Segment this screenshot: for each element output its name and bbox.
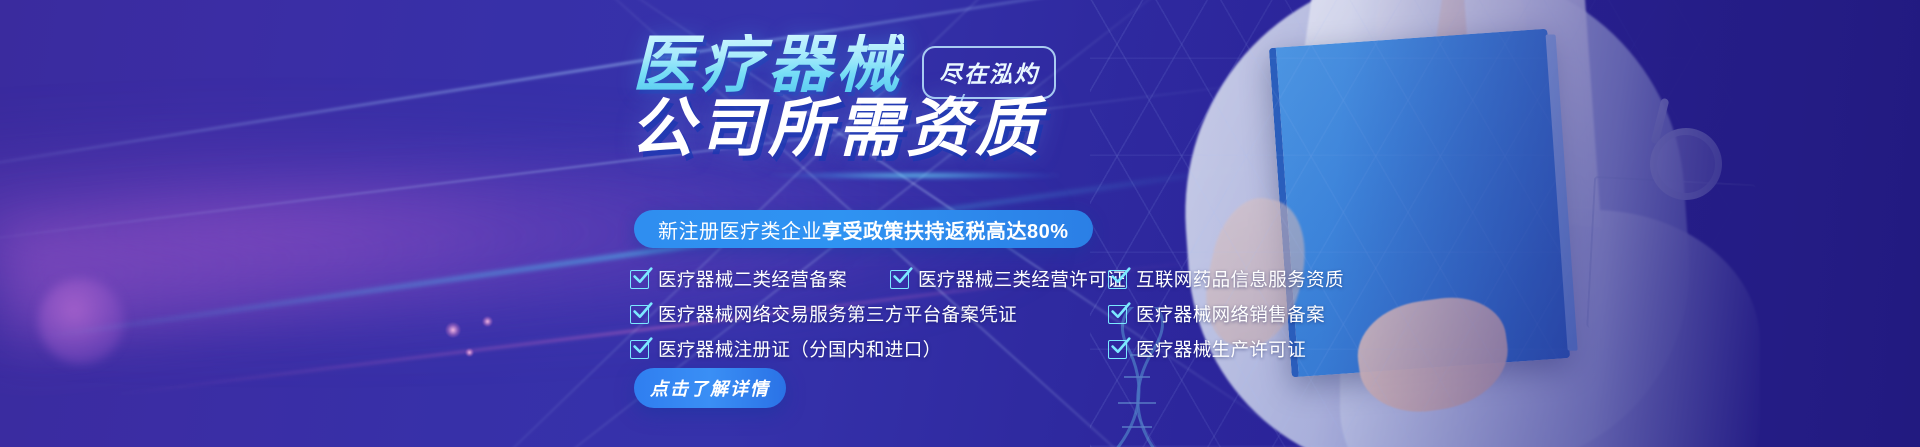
checklist-item[interactable]: 医疗器械网络销售备案 [1108,301,1325,327]
headline-line-1: 医疗器械 [632,34,904,97]
headline-line-2: 公司所需资质 [630,96,1044,160]
subtitle-text-emphasis-2: 返税高达80% [945,215,1069,244]
checklist-row: 医疗器械二类经营备案 医疗器械三类经营许可证 互联网药品信息服务资质 [630,266,1344,292]
qualification-checklist: 医疗器械二类经营备案 医疗器械三类经营许可证 互联网药品信息服务资质 [630,266,1344,371]
subtitle-text-normal-1: 新注册医疗类企业 [658,215,822,244]
check-icon [890,270,909,289]
checklist-row: 医疗器械网络交易服务第三方平台备案凭证 医疗器械网络销售备案 [630,301,1344,327]
subtitle-text-emphasis-1: 享受政策扶持 [822,215,945,244]
banner-content: 医疗器械 尽在泓灼 公司所需资质 新注册医疗类企业 享受政策扶持 返税高达80%… [0,0,1920,447]
checklist-item[interactable]: 医疗器械网络交易服务第三方平台备案凭证 [630,301,1108,327]
check-icon [630,340,649,359]
checklist-row: 医疗器械注册证（分国内和进口） 医疗器械生产许可证 [630,336,1344,362]
promo-banner: 医疗器械 尽在泓灼 公司所需资质 新注册医疗类企业 享受政策扶持 返税高达80%… [0,0,1920,447]
checklist-item[interactable]: 医疗器械注册证（分国内和进口） [630,336,1108,362]
check-icon [1108,270,1127,289]
checklist-item-label: 医疗器械二类经营备案 [658,266,847,292]
check-icon [630,270,649,289]
glow-underline-decoration [770,172,1060,179]
checklist-item[interactable]: 医疗器械生产许可证 [1108,336,1306,362]
checklist-item-label: 医疗器械生产许可证 [1136,336,1306,362]
checklist-item[interactable]: 医疗器械二类经营备案 [630,266,858,292]
checklist-item-label: 医疗器械注册证（分国内和进口） [658,336,942,362]
headline-row: 医疗器械 尽在泓灼 [632,34,1056,99]
check-icon [630,305,649,324]
checklist-item[interactable]: 互联网药品信息服务资质 [1108,266,1344,292]
check-icon [1108,305,1127,324]
subtitle-bar: 新注册医疗类企业 享受政策扶持 返税高达80% [634,210,1093,248]
checklist-item[interactable]: 医疗器械三类经营许可证 [890,266,1108,292]
checklist-item-label: 互联网药品信息服务资质 [1136,266,1344,292]
checklist-item-label: 医疗器械网络销售备案 [1136,301,1325,327]
cta-button-label: 点击了解详情 [650,375,770,401]
checklist-item-label: 医疗器械网络交易服务第三方平台备案凭证 [658,301,1017,327]
cta-button[interactable]: 点击了解详情 [634,368,786,408]
checklist-item-label: 医疗器械三类经营许可证 [918,266,1126,292]
check-icon [1108,340,1127,359]
